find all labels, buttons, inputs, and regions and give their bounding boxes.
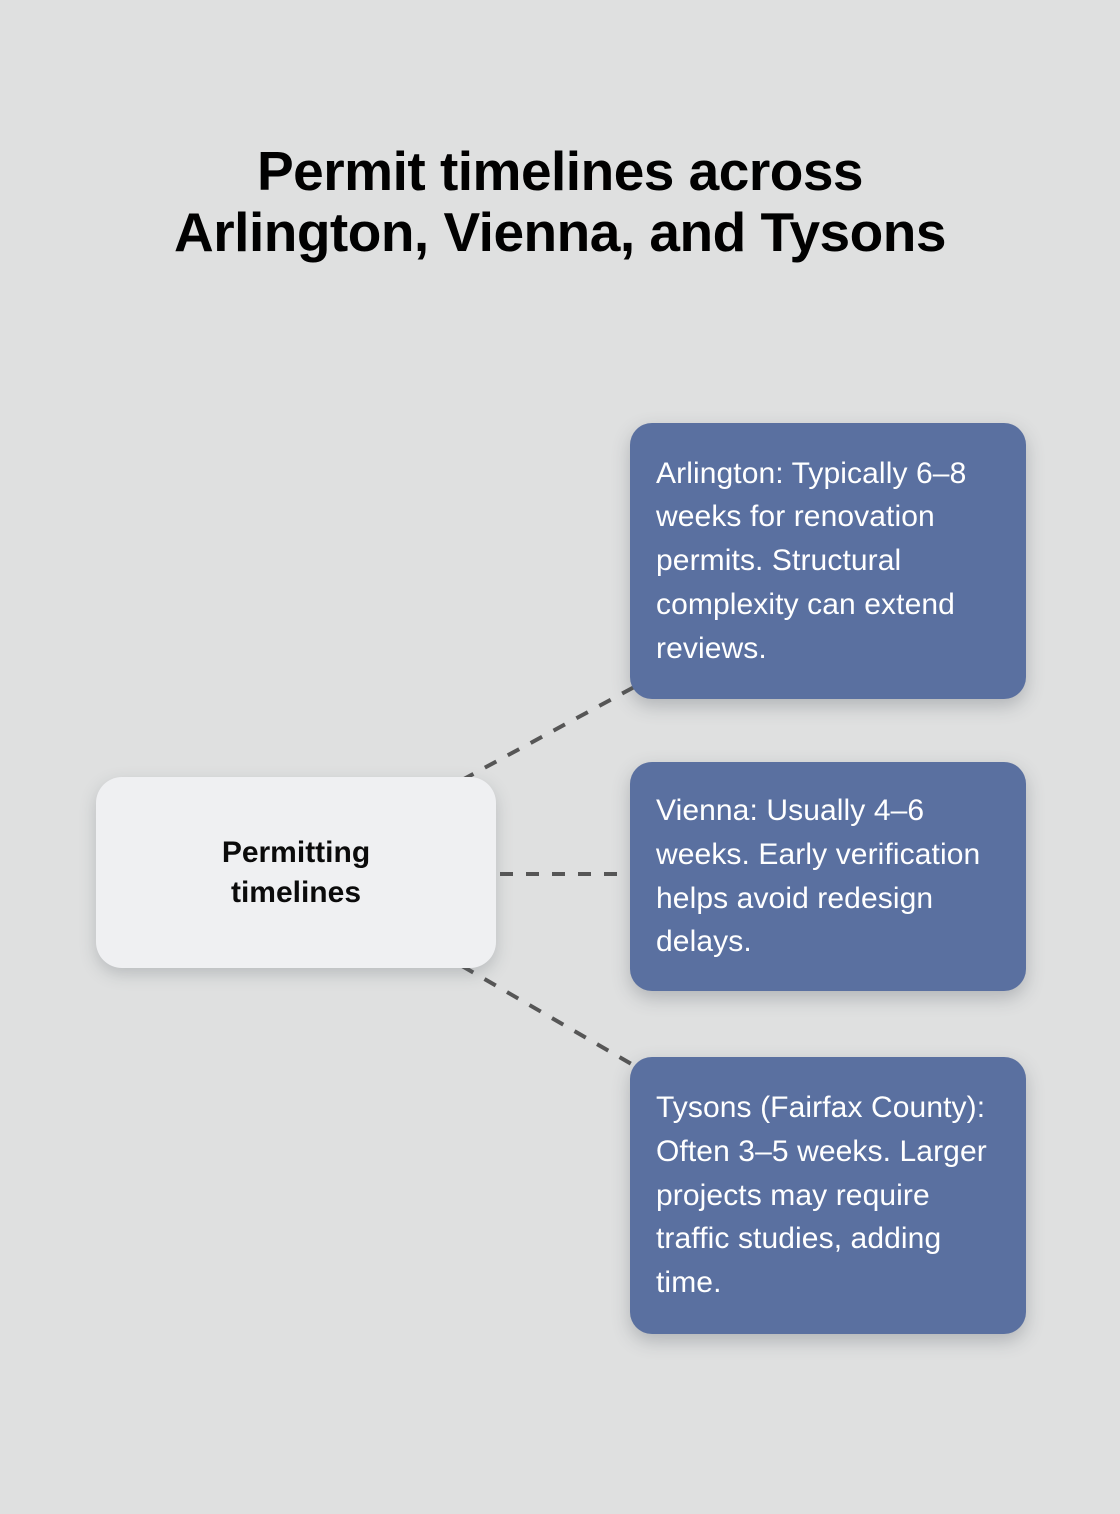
branch-card-arlington-text: Arlington: Typically 6–8 weeks for renov… bbox=[656, 452, 1000, 671]
diagram-canvas: Permit timelines across Arlington, Vienn… bbox=[0, 0, 1120, 1514]
branch-card-vienna-text: Vienna: Usually 4–6 weeks. Early verific… bbox=[656, 789, 1000, 964]
branch-card-tysons[interactable]: Tysons (Fairfax County): Often 3–5 weeks… bbox=[630, 1057, 1026, 1334]
page-title: Permit timelines across Arlington, Vienn… bbox=[60, 141, 1060, 264]
branch-card-vienna[interactable]: Vienna: Usually 4–6 weeks. Early verific… bbox=[630, 762, 1026, 991]
root-node-label: Permitting timelines bbox=[222, 833, 370, 913]
branch-card-tysons-text: Tysons (Fairfax County): Often 3–5 weeks… bbox=[656, 1086, 1000, 1305]
root-node[interactable]: Permitting timelines bbox=[96, 777, 496, 968]
connector-root-to-tysons bbox=[462, 966, 640, 1069]
branch-card-arlington[interactable]: Arlington: Typically 6–8 weeks for renov… bbox=[630, 423, 1026, 699]
connector-root-to-arlington bbox=[462, 685, 638, 780]
